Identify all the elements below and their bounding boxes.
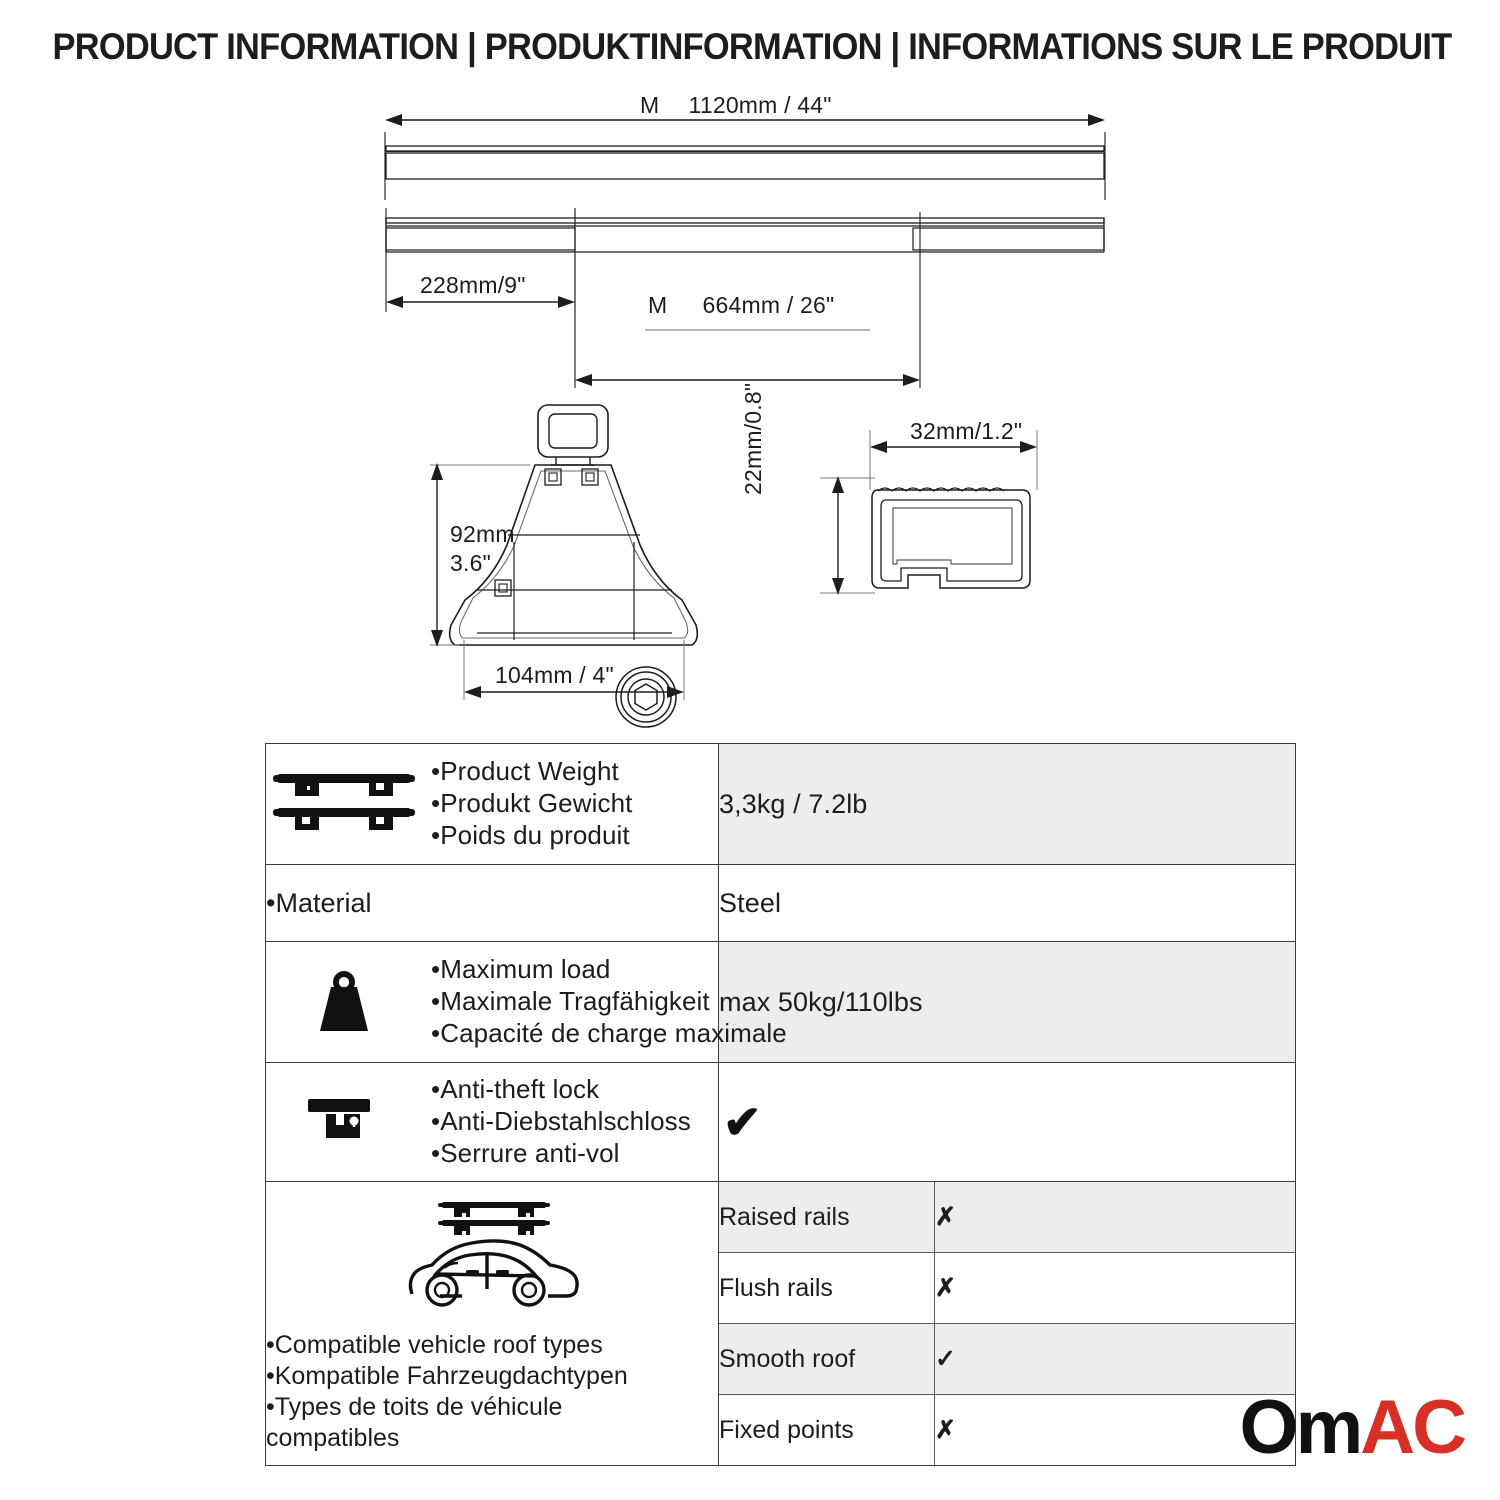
- lock-icon: [266, 1091, 421, 1153]
- table-row-maximum-load: •Maximum load •Maximale Tragfähigkeit •C…: [266, 942, 1296, 1063]
- value-product-weight: 3,3kg / 7.2lb: [719, 744, 1296, 865]
- label-line-fr: •Capacité de charge maximale: [431, 1018, 787, 1050]
- roof-option-mark-cross: ✗: [935, 1253, 1296, 1324]
- dim-foot-width: 104mm / 4": [495, 662, 614, 689]
- label-text-roof-types: •Compatible vehicle roof types •Kompatib…: [266, 1330, 718, 1454]
- check-icon: ✔: [719, 1096, 762, 1148]
- value-material: Steel: [719, 865, 1296, 942]
- value-anti-theft-lock: ✔: [719, 1063, 1296, 1182]
- dim-foot-height: 92mm 3.6": [450, 520, 515, 578]
- page-title: PRODUCT INFORMATION | PRODUKTINFORMATION…: [53, 26, 1448, 68]
- roof-options-cell: Raised rails ✗ Flush rails ✗ Smooth roof…: [719, 1182, 1296, 1466]
- label-cell-product-weight: •Product Weight •Produkt Gewicht •Poids …: [266, 744, 719, 865]
- logo-text-red: AC: [1360, 1390, 1464, 1466]
- label-line-en: •Maximum load: [431, 954, 787, 986]
- label-line-fr: •Serrure anti-vol: [431, 1138, 691, 1170]
- label-line-de: •Anti-Diebstahlschloss: [431, 1106, 691, 1138]
- roof-option-name: Fixed points: [719, 1395, 935, 1466]
- roof-option-name: Raised rails: [719, 1182, 935, 1253]
- roof-option-fixed-points: Fixed points ✗: [719, 1395, 1295, 1466]
- label-line-de: •Kompatible Fahrzeugdachtypen: [266, 1361, 718, 1392]
- label-line-de: •Produkt Gewicht: [431, 788, 632, 820]
- label-line-en: •Anti-theft lock: [431, 1074, 691, 1106]
- dim-span-prefix: M: [648, 292, 667, 318]
- label-line-fr: •Poids du produit: [431, 820, 632, 852]
- label-text-maximum-load: •Maximum load •Maximale Tragfähigkeit •C…: [431, 954, 787, 1049]
- table-row-anti-theft-lock: •Anti-theft lock •Anti-Diebstahlschloss …: [266, 1063, 1296, 1182]
- dim-profile-width: 32mm/1.2": [910, 418, 1022, 445]
- label-cell-material: •Material: [266, 865, 719, 942]
- roof-option-name: Smooth roof: [719, 1324, 935, 1395]
- label-line-fr: •Types de toits de véhicule: [266, 1392, 718, 1423]
- roof-options-table: Raised rails ✗ Flush rails ✗ Smooth roof…: [719, 1182, 1295, 1465]
- label-text-anti-theft-lock: •Anti-theft lock •Anti-Diebstahlschloss …: [431, 1074, 691, 1169]
- label-cell-roof-types: •Compatible vehicle roof types •Kompatib…: [266, 1182, 719, 1466]
- dim-end-offset: 228mm/9": [420, 272, 526, 299]
- label-line-de: •Maximale Tragfähigkeit: [431, 986, 787, 1018]
- roof-option-flush-rails: Flush rails ✗: [719, 1253, 1295, 1324]
- roof-option-raised-rails: Raised rails ✗: [719, 1182, 1295, 1253]
- label-line-fr-cont: compatibles: [266, 1423, 718, 1454]
- omac-logo: Om AC: [1240, 1390, 1464, 1466]
- specifications-table: •Product Weight •Produkt Gewicht •Poids …: [265, 743, 1296, 1466]
- dim-foot-height-mm: 92mm: [450, 520, 515, 549]
- label-cell-maximum-load: •Maximum load •Maximale Tragfähigkeit •C…: [266, 942, 719, 1063]
- label-line-en: •Compatible vehicle roof types: [266, 1330, 718, 1361]
- label-line-en: •Product Weight: [431, 756, 632, 788]
- roof-option-mark-check: ✓: [935, 1324, 1296, 1395]
- technical-drawing: M 1120mm / 44" 228mm/9" M 664mm / 26" 92…: [0, 80, 1500, 730]
- car-with-rack-icon: [266, 1194, 718, 1322]
- label-text-product-weight: •Product Weight •Produkt Gewicht •Poids …: [431, 756, 632, 851]
- logo-text-dark: Om: [1240, 1390, 1361, 1466]
- label-cell-anti-theft-lock: •Anti-theft lock •Anti-Diebstahlschloss …: [266, 1063, 719, 1182]
- dim-foot-height-in: 3.6": [450, 549, 515, 578]
- weight-icon: [266, 965, 421, 1039]
- dim-span-value: 664mm / 26": [703, 292, 835, 318]
- dim-span: M 664mm / 26": [648, 292, 834, 319]
- table-row-product-weight: •Product Weight •Produkt Gewicht •Poids …: [266, 744, 1296, 865]
- roof-option-mark-cross: ✗: [935, 1182, 1296, 1253]
- table-row-material: •Material Steel: [266, 865, 1296, 942]
- dim-bar-length: M 1120mm / 44": [640, 92, 832, 119]
- value-maximum-load: max 50kg/110lbs: [719, 942, 1296, 1063]
- dim-bar-length-value: 1120mm / 44": [689, 92, 832, 118]
- dim-bar-length-prefix: M: [640, 92, 659, 118]
- dim-profile-height: 22mm/0.8": [740, 383, 767, 495]
- table-row-roof-types: •Compatible vehicle roof types •Kompatib…: [266, 1182, 1296, 1466]
- crossbars-icon: [266, 768, 421, 840]
- roof-option-name: Flush rails: [719, 1253, 935, 1324]
- roof-option-smooth-roof: Smooth roof ✓: [719, 1324, 1295, 1395]
